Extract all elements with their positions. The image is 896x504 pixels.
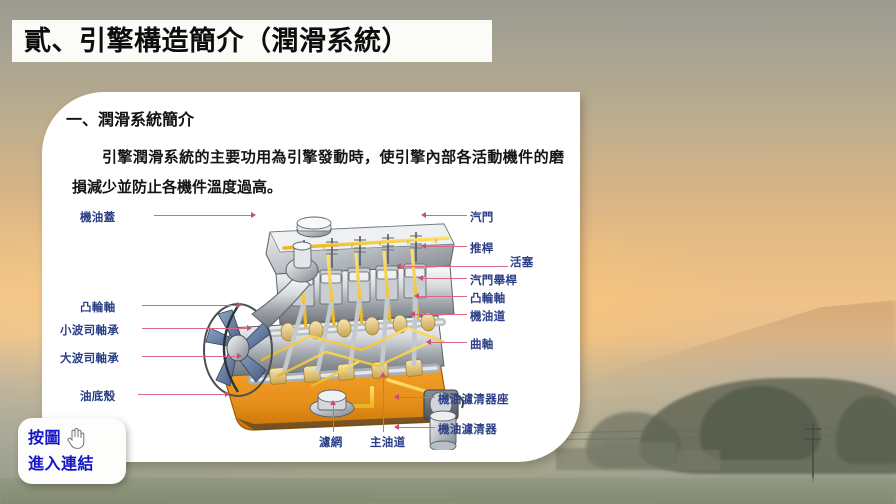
slide-title-bar: 貳、引擎構造簡介（潤滑系統） [12, 20, 492, 62]
leader-piston [400, 266, 508, 267]
diagram-label-pushrod: 推桿 [470, 240, 494, 256]
diagram-label-big-end-bearing: 大波司軸承 [60, 350, 119, 366]
pointing-hand-icon [65, 427, 85, 449]
arrow-small-end-bearing [247, 325, 252, 331]
leader-main-gallery [383, 376, 384, 432]
arrow-piston [396, 263, 401, 269]
leader-pushrod [425, 246, 467, 247]
arrow-camshaft-left [237, 302, 242, 308]
leader-oil-gallery [414, 314, 467, 315]
arrow-oil-filter [394, 424, 399, 430]
leader-strainer [333, 404, 334, 432]
diagram-label-camshaft-left: 凸輪軸 [80, 299, 115, 315]
arrow-big-end-bearing [237, 353, 242, 359]
diagram-label-piston: 活塞 [510, 254, 534, 270]
content-card: 一、潤滑系統簡介 引擎潤滑系統的主要功用為引擎發動時，使引擎內部各活動機件的磨損… [42, 92, 580, 462]
arrow-oil-gallery [410, 311, 415, 317]
leader-small-end-bearing [142, 328, 248, 329]
link-button-line2: 進入連結 [28, 451, 126, 477]
arrow-camshaft-right [414, 293, 419, 299]
arrow-filter-mount [394, 394, 399, 400]
diagram-label-valve: 汽門 [470, 209, 494, 225]
leader-camshaft-right [418, 296, 467, 297]
leader-valve-lifter [422, 278, 467, 279]
arrow-oil-pan [225, 391, 230, 397]
diagram-label-camshaft-right: 凸輪軸 [470, 290, 505, 306]
diagram-label-oil-cap: 機油蓋 [80, 209, 115, 225]
diagram-label-valve-lifter: 汽門舉桿 [470, 272, 517, 288]
arrow-pushrod [421, 243, 426, 249]
diagram-label-filter-mount: 機油濾清器座 [438, 391, 509, 407]
leader-crankshaft [430, 342, 467, 343]
diagram-label-strainer: 濾網 [319, 434, 343, 450]
leader-valve [425, 215, 467, 216]
arrow-strainer [330, 400, 336, 405]
enter-link-button[interactable]: 按圖 進入連結 [18, 418, 126, 484]
utility-pole-arm-1 [805, 428, 821, 430]
leader-oil-pan [138, 394, 226, 395]
leader-oil-filter [398, 427, 435, 428]
diagram-label-crankshaft: 曲軸 [470, 336, 494, 352]
utility-pole-arm-2 [805, 438, 821, 440]
arrow-main-gallery [380, 372, 386, 377]
diagram-label-oil-pan: 油底殼 [80, 388, 115, 404]
building-silhouette-b [606, 442, 676, 470]
leader-filter-mount [398, 397, 435, 398]
page-title: 貳、引擎構造簡介（潤滑系統） [24, 28, 409, 55]
body-paragraph: 引擎潤滑系統的主要功用為引擎發動時，使引擎內部各活動機件的磨損減少並防止各機件溫… [72, 142, 564, 202]
arrow-oil-cap [251, 212, 256, 218]
diagram-label-main-gallery: 主油道 [370, 434, 405, 450]
leader-oil-cap [154, 215, 252, 216]
arrow-valve [421, 212, 426, 218]
building-silhouette-c [676, 450, 720, 470]
diagram-label-oil-gallery: 機油道 [470, 308, 505, 324]
diagram-label-small-end-bearing: 小波司軸承 [60, 322, 119, 338]
section-heading: 一、潤滑系統簡介 [66, 106, 194, 130]
utility-pole [812, 424, 814, 482]
arrow-valve-lifter [418, 275, 423, 281]
leader-camshaft-left [142, 305, 238, 306]
diagram-label-oil-filter: 機油濾清器 [438, 421, 497, 437]
leader-big-end-bearing [142, 356, 238, 357]
link-button-line1: 按圖 [28, 425, 61, 451]
foreground-field [0, 478, 896, 504]
arrow-crankshaft [426, 339, 431, 345]
